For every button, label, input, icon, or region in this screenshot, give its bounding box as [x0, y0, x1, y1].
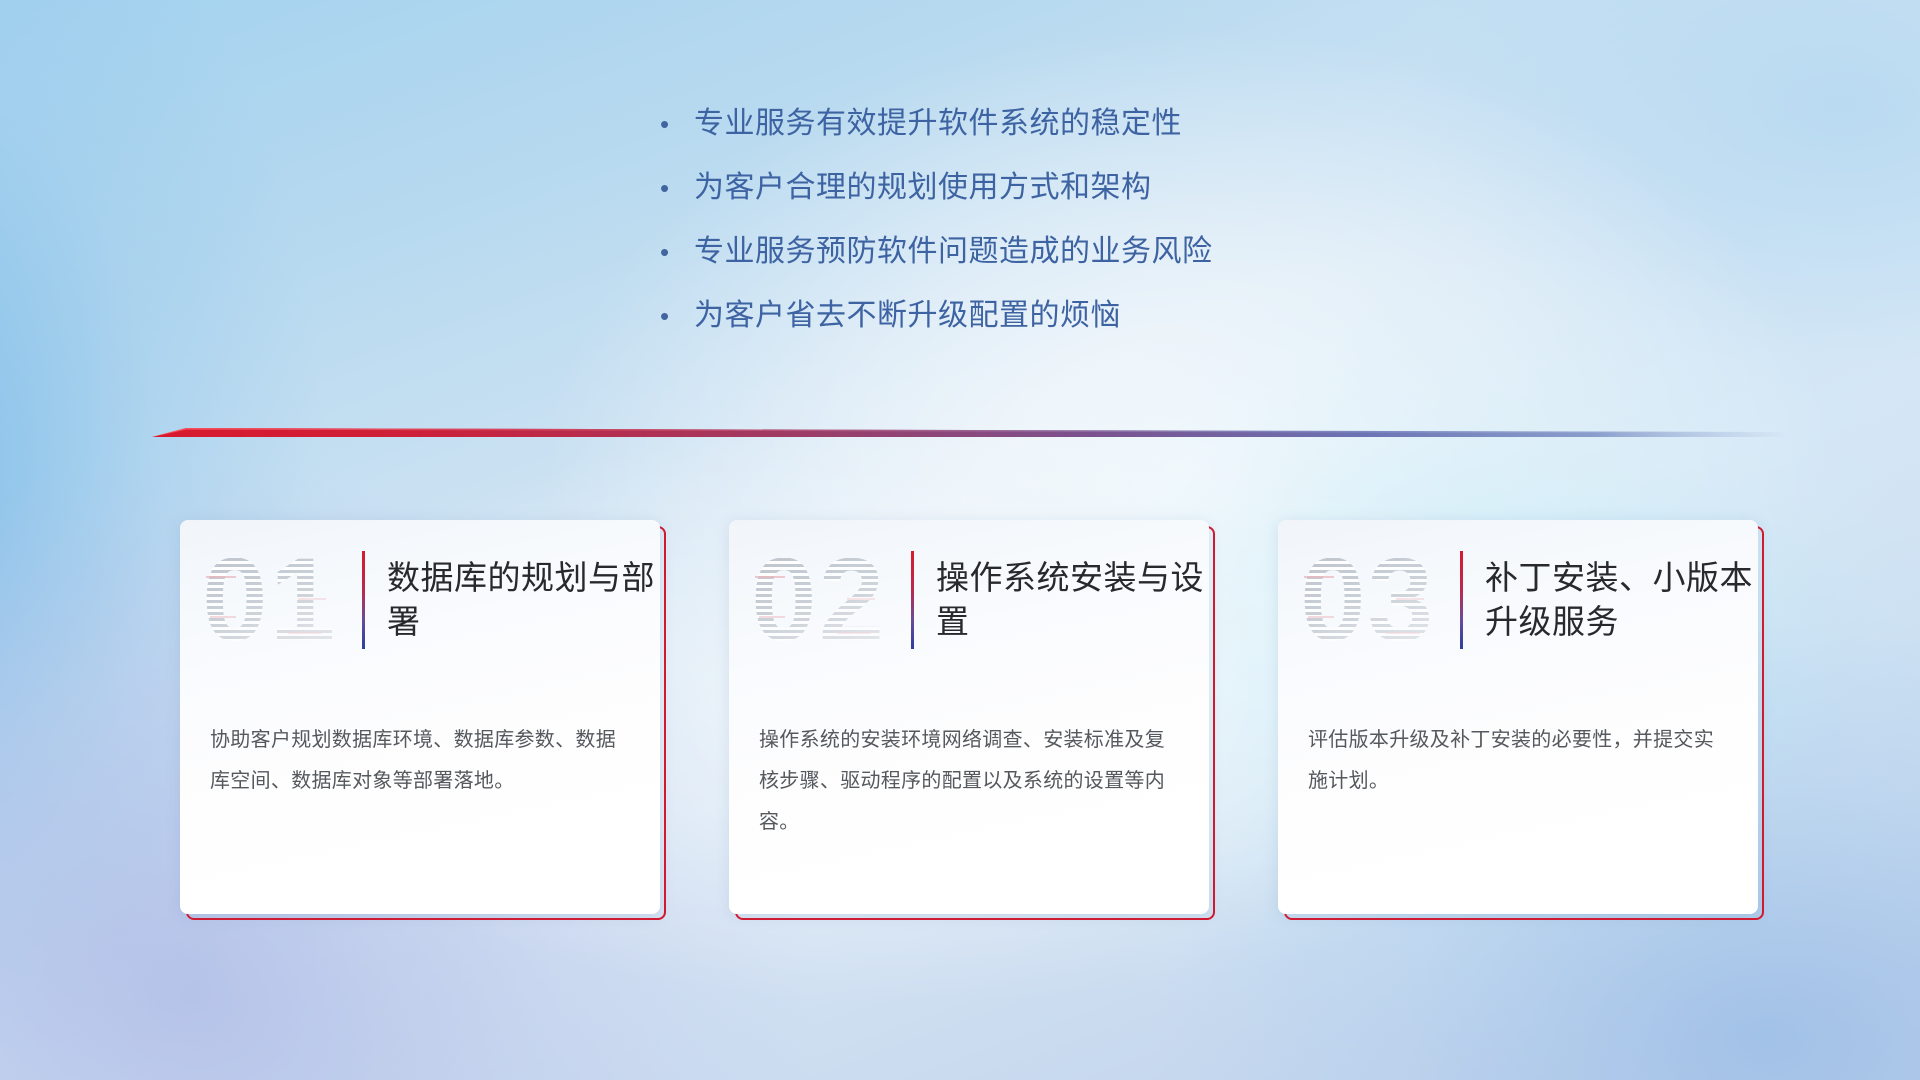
benefits-bullet-list: • 专业服务有效提升软件系统的稳定性 • 为客户合理的规划使用方式和架构 • 专…	[660, 92, 1520, 348]
card-body: 02 操作系统安装与设置 操作系统的安装环境网络调查、安装标准及复核步骤、驱动程…	[729, 520, 1209, 914]
bullet-marker-icon: •	[660, 220, 694, 284]
card-description: 协助客户规划数据库环境、数据库参数、数据库空间、数据库对象等部署落地。	[210, 720, 634, 802]
list-item: • 为客户合理的规划使用方式和架构	[660, 156, 1520, 220]
list-item: • 为客户省去不断升级配置的烦恼	[660, 284, 1520, 348]
bullet-text: 专业服务预防软件问题造成的业务风险	[694, 220, 1213, 284]
bullet-text: 为客户合理的规划使用方式和架构	[694, 156, 1152, 220]
service-card[interactable]: 02 操作系统安装与设置 操作系统的安装环境网络调查、安装标准及复核步骤、驱动程…	[729, 520, 1215, 920]
list-item: • 专业服务预防软件问题造成的业务风险	[660, 220, 1520, 284]
card-description: 评估版本升级及补丁安装的必要性，并提交实施计划。	[1308, 720, 1732, 802]
bullet-marker-icon: •	[660, 284, 694, 348]
bullet-text: 专业服务有效提升软件系统的稳定性	[694, 92, 1182, 156]
card-number-01: 01	[202, 540, 362, 660]
card-title: 数据库的规划与部署	[387, 556, 660, 643]
bullet-marker-icon: •	[660, 156, 694, 220]
striped-numeral-icon: 02	[751, 540, 911, 660]
card-header: 02 操作系统安装与设置	[729, 520, 1209, 680]
card-title: 补丁安装、小版本升级服务	[1485, 556, 1758, 643]
striped-numeral-icon: 03	[1300, 540, 1460, 660]
bullet-text: 为客户省去不断升级配置的烦恼	[694, 284, 1121, 348]
divider-wedge-icon	[150, 418, 1790, 454]
card-body: 03 补丁安装、小版本升级服务 评估版本升级及补丁安装的必要性，并提交实施计划。	[1278, 520, 1758, 914]
card-header: 01 数据库的规划与部署	[180, 520, 660, 680]
card-title-accent-bar	[362, 551, 365, 649]
card-number-03: 03	[1300, 540, 1460, 660]
bullet-marker-icon: •	[660, 92, 694, 156]
card-title-accent-bar	[911, 551, 914, 649]
service-card[interactable]: 03 补丁安装、小版本升级服务 评估版本升级及补丁安装的必要性，并提交实施计划。	[1278, 520, 1764, 920]
service-card[interactable]: 01 数据库的规划与部署 协助客户规划数据库环境、数据库参数、数据库空间、数据库…	[180, 520, 666, 920]
card-number-02: 02	[751, 540, 911, 660]
card-body: 01 数据库的规划与部署 协助客户规划数据库环境、数据库参数、数据库空间、数据库…	[180, 520, 660, 914]
section-divider	[150, 418, 1790, 454]
list-item: • 专业服务有效提升软件系统的稳定性	[660, 92, 1520, 156]
striped-numeral-icon: 01	[202, 540, 362, 660]
service-cards-row: 01 数据库的规划与部署 协助客户规划数据库环境、数据库参数、数据库空间、数据库…	[0, 520, 1920, 930]
card-header: 03 补丁安装、小版本升级服务	[1278, 520, 1758, 680]
card-title: 操作系统安装与设置	[936, 556, 1209, 643]
card-title-accent-bar	[1460, 551, 1463, 649]
card-description: 操作系统的安装环境网络调查、安装标准及复核步骤、驱动程序的配置以及系统的设置等内…	[759, 720, 1183, 843]
